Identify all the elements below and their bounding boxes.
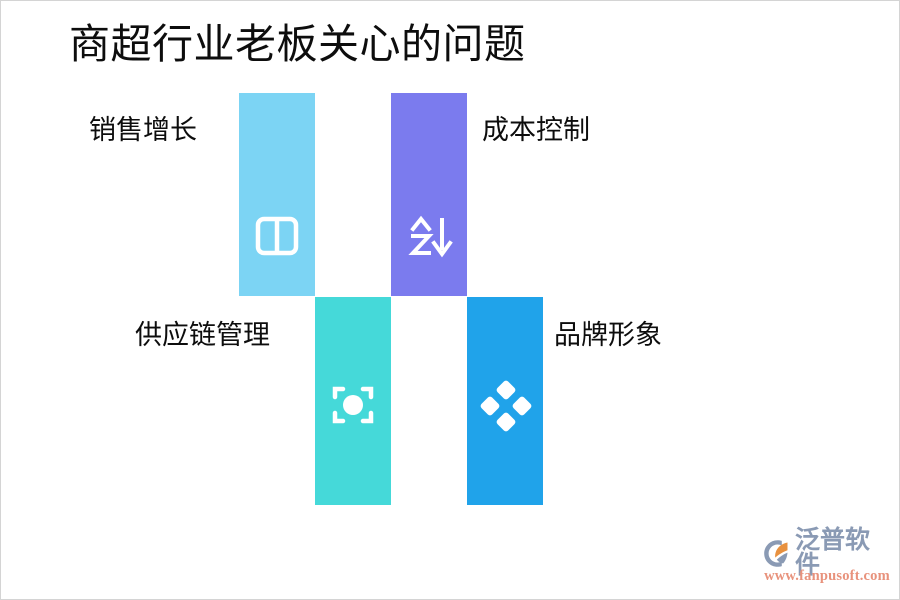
brand-logo: 泛普软件 www.fanpusoft.com <box>763 538 891 586</box>
sort-az-descending-icon <box>400 207 458 265</box>
focus-target-icon <box>324 376 382 434</box>
card-label-sales-growth: 销售增长 <box>89 117 197 144</box>
card-sales-growth[interactable] <box>239 93 315 296</box>
card-cost-control[interactable] <box>391 93 467 296</box>
card-label-supply-chain: 供应链管理 <box>135 322 270 349</box>
fanpu-swoosh-logo-icon <box>763 539 792 568</box>
page-title: 商超行业老板关心的问题 <box>69 19 526 70</box>
card-brand-image[interactable] <box>467 297 543 505</box>
four-diamonds-icon <box>476 376 534 434</box>
slide-canvas: 商超行业老板关心的问题 <box>0 0 900 600</box>
split-columns-icon <box>248 207 306 265</box>
card-supply-chain[interactable] <box>315 297 391 505</box>
card-label-cost-control: 成本控制 <box>482 117 590 144</box>
card-label-brand-image: 品牌形象 <box>554 322 662 349</box>
logo-website-url: www.fanpusoft.com <box>763 569 891 584</box>
